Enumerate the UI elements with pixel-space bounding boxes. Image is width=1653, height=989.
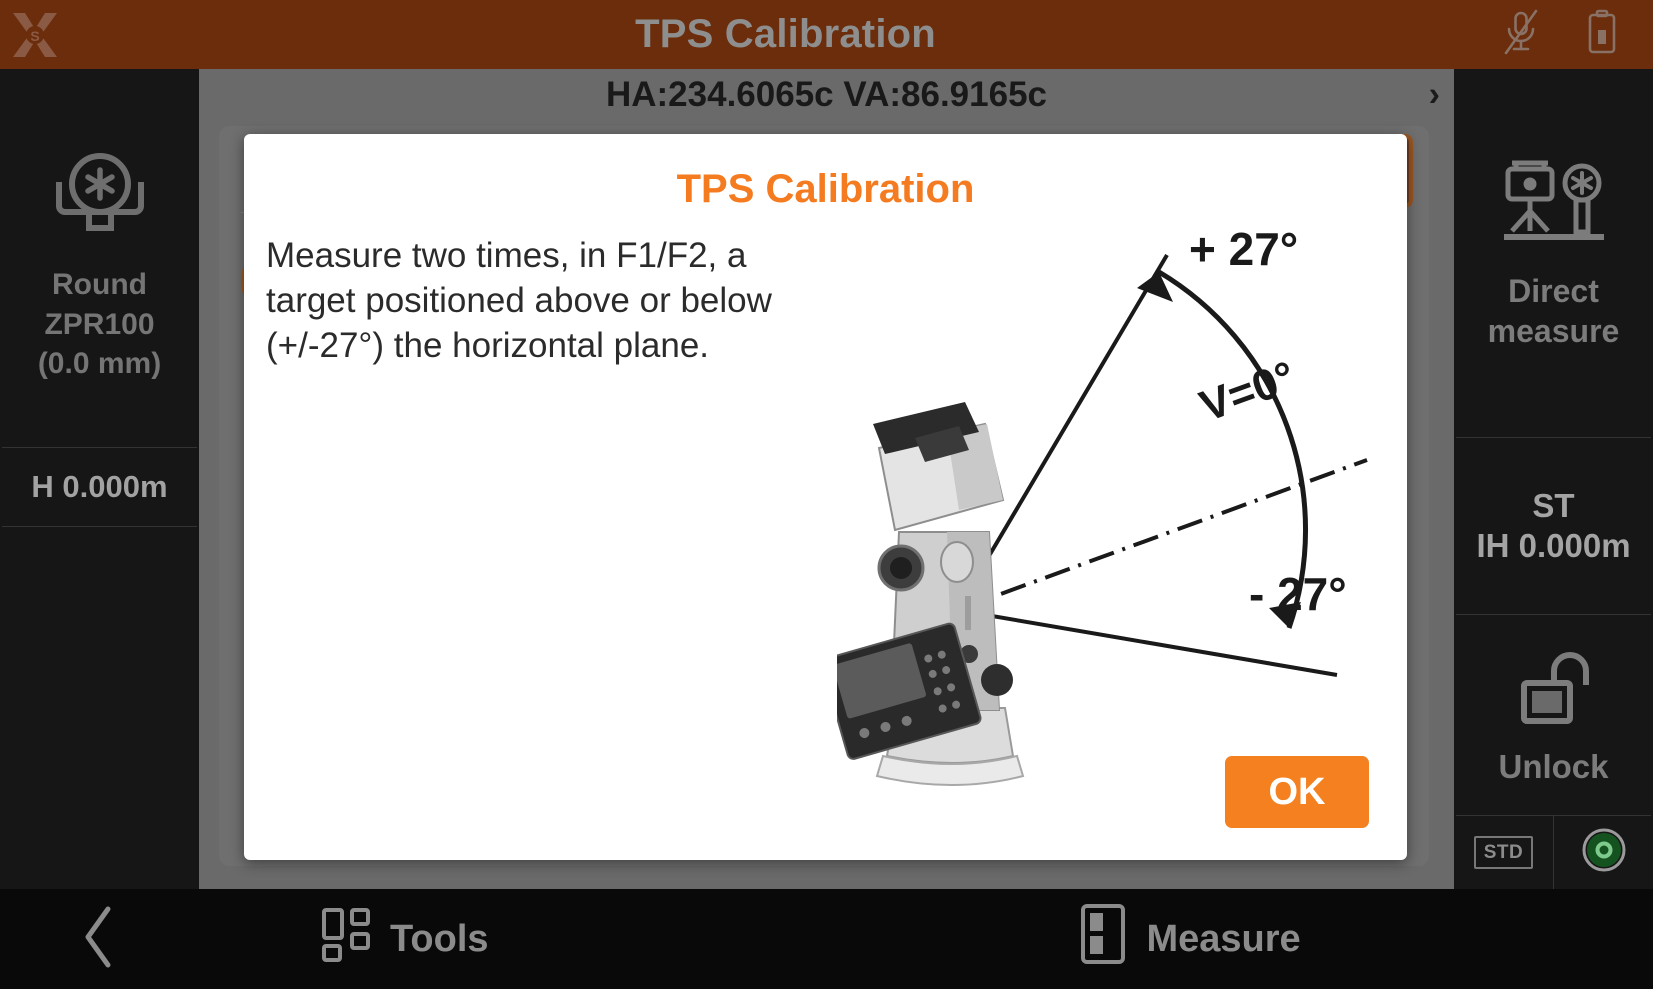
dialog-body-line-3: (+/-27°) the horizontal plane. xyxy=(266,324,826,369)
unlock-padlock-icon xyxy=(1506,645,1602,740)
std-label: STD xyxy=(1474,836,1534,869)
dialog-body-line-2: target positioned above or below xyxy=(266,279,826,324)
target-line-1: Round xyxy=(38,265,161,305)
dialog-title: TPS Calibration xyxy=(244,167,1407,212)
battery-icon[interactable] xyxy=(1585,8,1619,61)
target-line-3: (0.0 mm) xyxy=(38,344,161,384)
tools-button[interactable]: Tools xyxy=(200,906,897,972)
level-status-button[interactable] xyxy=(1553,816,1653,889)
dialog-body-text: Measure two times, in F1/F2, a target po… xyxy=(266,234,826,368)
total-station-and-prism-icon xyxy=(1494,155,1614,256)
level-bubble-icon xyxy=(1581,827,1627,878)
total-station-instrument-illustration xyxy=(837,402,1023,785)
angle-readout: HA:234.6065c VA:86.9165c xyxy=(606,75,1047,115)
microphone-muted-icon[interactable] xyxy=(1501,8,1541,61)
direct-measure-line-2: measure xyxy=(1488,312,1620,351)
station-line-1: ST xyxy=(1532,486,1574,526)
unlock-label: Unlock xyxy=(1498,748,1608,786)
total-station-angle-diagram: + 27° - 27° V=0° xyxy=(837,210,1397,800)
ok-button[interactable]: OK xyxy=(1225,756,1369,828)
angle-readout-bar[interactable]: HA:234.6065c VA:86.9165c › xyxy=(199,69,1454,121)
label-plus-27: + 27° xyxy=(1189,223,1298,275)
direct-measure-button[interactable]: Direct measure xyxy=(1454,69,1653,437)
tools-label: Tools xyxy=(390,918,489,961)
x-pad-s-logo-icon[interactable]: S xyxy=(0,0,70,69)
prism-target-icon xyxy=(45,150,155,251)
unlock-button[interactable]: Unlock xyxy=(1454,615,1653,815)
direct-measure-line-1: Direct xyxy=(1488,272,1620,311)
station-line-2: IH 0.000m xyxy=(1476,526,1630,566)
right-sidebar: Direct measure ST IH 0.000m Unlock xyxy=(1454,69,1653,889)
chevron-right-icon[interactable]: › xyxy=(1429,76,1440,115)
chevron-left-icon xyxy=(80,904,120,975)
measure-label: Measure xyxy=(1147,918,1301,961)
target-line-2: ZPR100 xyxy=(38,305,161,345)
top-bar-status-icons xyxy=(1501,8,1653,61)
right-rail-status-row: STD xyxy=(1454,816,1653,889)
std-mode-button[interactable]: STD xyxy=(1454,816,1553,889)
left-sidebar: Round ZPR100 (0.0 mm) H 0.000m xyxy=(0,69,199,889)
back-button[interactable] xyxy=(0,904,200,975)
page-title: TPS Calibration xyxy=(70,12,1501,57)
svg-text:S: S xyxy=(30,28,39,44)
target-height-field[interactable]: H 0.000m xyxy=(0,448,199,526)
station-info[interactable]: ST IH 0.000m xyxy=(1454,438,1653,614)
measure-panel-icon xyxy=(1077,903,1131,975)
label-minus-27: - 27° xyxy=(1249,568,1347,620)
tps-calibration-dialog: TPS Calibration Measure two times, in F1… xyxy=(244,134,1407,860)
dialog-body-line-1: Measure two times, in F1/F2, a xyxy=(266,234,826,279)
bottom-bar: Tools Measure xyxy=(0,889,1653,989)
top-bar: S TPS Calibration xyxy=(0,0,1653,69)
app-root: S TPS Calibration xyxy=(0,0,1653,989)
tools-grid-icon xyxy=(320,906,374,972)
target-selector[interactable]: Round ZPR100 (0.0 mm) xyxy=(0,69,199,447)
measure-button[interactable]: Measure xyxy=(897,903,1653,975)
rail-divider-2 xyxy=(2,526,197,527)
